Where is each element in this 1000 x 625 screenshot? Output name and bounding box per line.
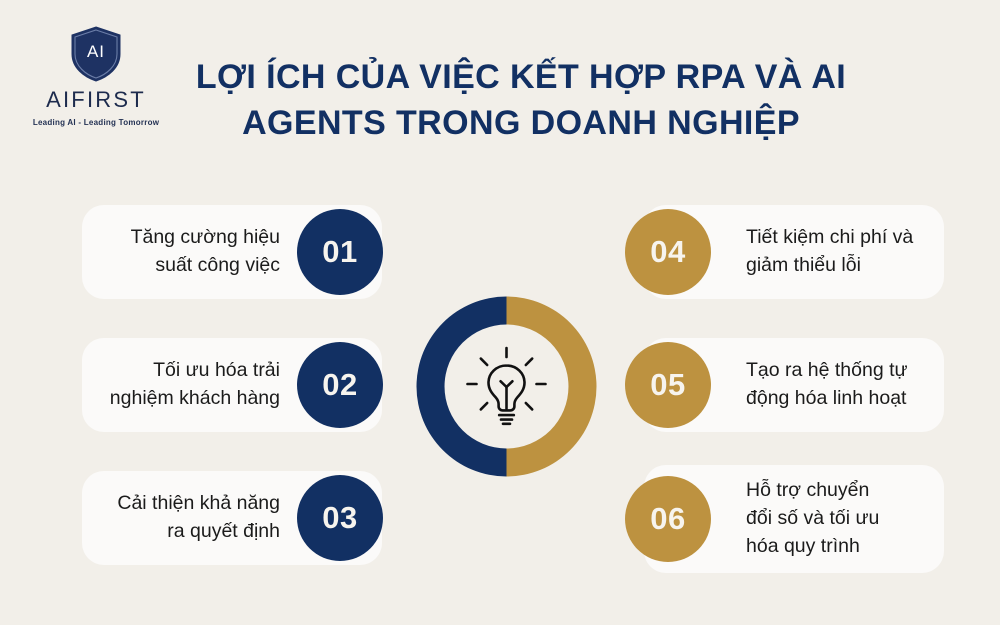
benefit-text-05-line-2: động hóa linh hoạt <box>746 387 906 409</box>
logo-wordmark: AIFIRST <box>46 87 146 113</box>
benefit-text-06-line-3: hóa quy trình <box>746 535 860 557</box>
benefit-text-06: Hỗ trợ chuyển đổi số và tối ưu hóa quy t… <box>740 477 944 560</box>
benefit-text-03-line-1: Cải thiện khả năng <box>117 492 280 514</box>
lightbulb-illustration <box>462 342 551 431</box>
benefit-text-02-line-2: nghiệm khách hàng <box>110 387 280 409</box>
page-title: LỢI ÍCH CỦA VIỆC KẾT HỢP RPA VÀ AI AGENT… <box>176 54 866 146</box>
page-title-line-2: AGENTS TRONG DOANH NGHIỆP <box>176 100 866 146</box>
benefit-badge-03[interactable]: 03 <box>297 475 383 561</box>
benefit-text-06-line-2: đổi số và tối ưu <box>746 507 879 529</box>
benefit-text-04: Tiết kiệm chi phí và giảm thiểu lỗi <box>740 224 944 279</box>
benefit-badge-04[interactable]: 04 <box>625 209 711 295</box>
lightbulb-icon <box>462 342 551 431</box>
svg-text:AI: AI <box>87 42 105 61</box>
shield-icon: AI <box>70 26 122 82</box>
benefit-badge-01[interactable]: 01 <box>297 209 383 295</box>
benefit-text-03: Cải thiện khả năng ra quyết định <box>82 490 286 545</box>
benefit-text-01-line-1: Tăng cường hiệu <box>131 226 280 248</box>
brand-logo: AI AIFIRST Leading AI - Leading Tomorrow <box>26 26 166 134</box>
benefit-badge-05[interactable]: 05 <box>625 342 711 428</box>
benefit-text-04-line-1: Tiết kiệm chi phí và <box>746 226 913 248</box>
benefit-text-02-line-1: Tối ưu hóa trải <box>153 359 280 381</box>
benefit-text-03-line-2: ra quyết định <box>167 520 280 542</box>
benefit-badge-02[interactable]: 02 <box>297 342 383 428</box>
benefit-text-06-line-1: Hỗ trợ chuyển <box>746 479 869 501</box>
benefit-text-04-line-2: giảm thiểu lỗi <box>746 254 861 276</box>
benefit-text-05: Tạo ra hệ thống tự động hóa linh hoạt <box>740 357 944 412</box>
benefit-text-01-line-2: suất công việc <box>155 254 280 276</box>
page-title-line-1: LỢI ÍCH CỦA VIỆC KẾT HỢP RPA VÀ AI <box>176 54 866 100</box>
benefit-text-01: Tăng cường hiệu suất công việc <box>82 224 286 279</box>
benefit-badge-06[interactable]: 06 <box>625 476 711 562</box>
logo-tagline: Leading AI - Leading Tomorrow <box>33 118 159 127</box>
infographic-canvas: AI AIFIRST Leading AI - Leading Tomorrow… <box>0 0 1000 625</box>
benefit-text-02: Tối ưu hóa trải nghiệm khách hàng <box>82 357 286 412</box>
benefit-text-05-line-1: Tạo ra hệ thống tự <box>746 359 908 381</box>
